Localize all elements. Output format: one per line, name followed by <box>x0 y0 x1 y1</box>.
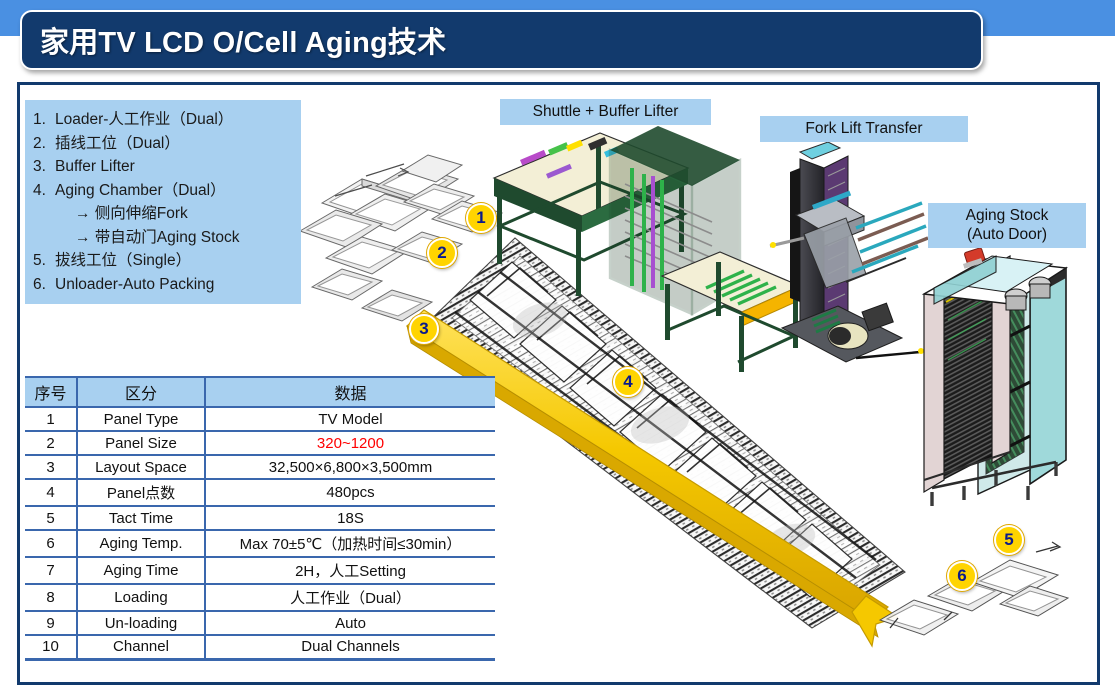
cell-division: Panel Type <box>77 407 205 431</box>
list-item-number: 5. <box>33 249 55 273</box>
cell-no: 9 <box>25 611 77 635</box>
cell-no: 2 <box>25 431 77 455</box>
cell-division: Loading <box>77 584 205 611</box>
table-row: 1 Panel Type TV Model <box>25 407 495 431</box>
table-row: 8 Loading 人工作业（Dual） <box>25 584 495 611</box>
callout-fork-lift-transfer: Fork Lift Transfer <box>760 116 968 142</box>
list-sub-item: → 带自动门Aging Stock <box>33 226 295 250</box>
cell-division: Panel Size <box>77 431 205 455</box>
list-sub-item-label: → 侧向伸缩Fork <box>55 202 295 226</box>
table-header-row: 序号 区分 数据 <box>25 377 495 407</box>
process-step-list: 1. Loader-人工作业（Dual） 2. 插线工位（Dual） 3. Bu… <box>25 100 301 304</box>
cell-division: Aging Time <box>77 557 205 584</box>
page-title: 家用TV LCD O/Cell Aging技术 <box>22 19 446 61</box>
list-item: 6. Unloader-Auto Packing <box>33 273 295 297</box>
slide-title-bar: 家用TV LCD O/Cell Aging技术 <box>20 10 983 70</box>
list-item-label: Aging Chamber（Dual） <box>55 179 295 203</box>
column-header-division: 区分 <box>77 377 205 407</box>
cell-data: 18S <box>205 506 495 530</box>
cell-division: Channel <box>77 635 205 659</box>
cell-data: 480pcs <box>205 479 495 506</box>
cell-data: Dual Channels <box>205 635 495 659</box>
table-row: 4 Panel点数 480pcs <box>25 479 495 506</box>
list-item-number: 2. <box>33 132 55 156</box>
step-badge-5: 5 <box>994 525 1024 555</box>
column-header-no: 序号 <box>25 377 77 407</box>
list-item-number: 4. <box>33 179 55 203</box>
cell-division: Tact Time <box>77 506 205 530</box>
table-row: 3 Layout Space 32,500×6,800×3,500mm <box>25 455 495 479</box>
table-row: 7 Aging Time 2H，人工Setting <box>25 557 495 584</box>
table-row: 9 Un-loading Auto <box>25 611 495 635</box>
column-header-data: 数据 <box>205 377 495 407</box>
callout-aging-stock-line2: (Auto Door) <box>936 225 1078 244</box>
cell-data: 人工作业（Dual） <box>205 584 495 611</box>
list-item-number: 3. <box>33 155 55 179</box>
cell-data: 320~1200 <box>205 431 495 455</box>
cell-no: 5 <box>25 506 77 530</box>
cell-division: Panel点数 <box>77 479 205 506</box>
list-item-label: Unloader-Auto Packing <box>55 273 295 297</box>
list-sub-item-label: → 带自动门Aging Stock <box>55 226 295 250</box>
table-row: 5 Tact Time 18S <box>25 506 495 530</box>
list-item: 3. Buffer Lifter <box>33 155 295 179</box>
cell-data: 2H，人工Setting <box>205 557 495 584</box>
list-item: 2. 插线工位（Dual） <box>33 132 295 156</box>
cell-no: 3 <box>25 455 77 479</box>
list-item-label: 插线工位（Dual） <box>55 132 295 156</box>
list-item: 1. Loader-人工作业（Dual） <box>33 108 295 132</box>
list-item-label: Loader-人工作业（Dual） <box>55 108 295 132</box>
cell-division: Layout Space <box>77 455 205 479</box>
callout-shuttle-buffer-lifter: Shuttle + Buffer Lifter <box>500 99 711 125</box>
list-item-number: 1. <box>33 108 55 132</box>
step-badge-3: 3 <box>409 314 439 344</box>
cell-no: 10 <box>25 635 77 659</box>
step-badge-4: 4 <box>613 367 643 397</box>
step-badge-6: 6 <box>947 561 977 591</box>
cell-data: TV Model <box>205 407 495 431</box>
list-item-label: 拔线工位（Single） <box>55 249 295 273</box>
callout-aging-stock: Aging Stock (Auto Door) <box>928 203 1086 248</box>
specification-table: 序号 区分 数据 1 Panel Type TV Model 2 Panel S… <box>25 376 495 661</box>
cell-data: 32,500×6,800×3,500mm <box>205 455 495 479</box>
list-item-number: 6. <box>33 273 55 297</box>
cell-data: Max 70±5℃（加热时间≤30min） <box>205 530 495 557</box>
table-row: 10 Channel Dual Channels <box>25 635 495 659</box>
step-badge-1: 1 <box>466 203 496 233</box>
cell-no: 4 <box>25 479 77 506</box>
list-item: 4. Aging Chamber（Dual） <box>33 179 295 203</box>
cell-no: 1 <box>25 407 77 431</box>
cell-no: 7 <box>25 557 77 584</box>
cell-no: 8 <box>25 584 77 611</box>
list-item: 5. 拔线工位（Single） <box>33 249 295 273</box>
table-row: 6 Aging Temp. Max 70±5℃（加热时间≤30min） <box>25 530 495 557</box>
list-sub-item: → 侧向伸缩Fork <box>33 202 295 226</box>
cell-no: 6 <box>25 530 77 557</box>
cell-division: Un-loading <box>77 611 205 635</box>
step-badge-2: 2 <box>427 238 457 268</box>
cell-data: Auto <box>205 611 495 635</box>
table-row: 2 Panel Size 320~1200 <box>25 431 495 455</box>
callout-aging-stock-line1: Aging Stock <box>936 206 1078 225</box>
list-item-label: Buffer Lifter <box>55 155 295 179</box>
cell-division: Aging Temp. <box>77 530 205 557</box>
